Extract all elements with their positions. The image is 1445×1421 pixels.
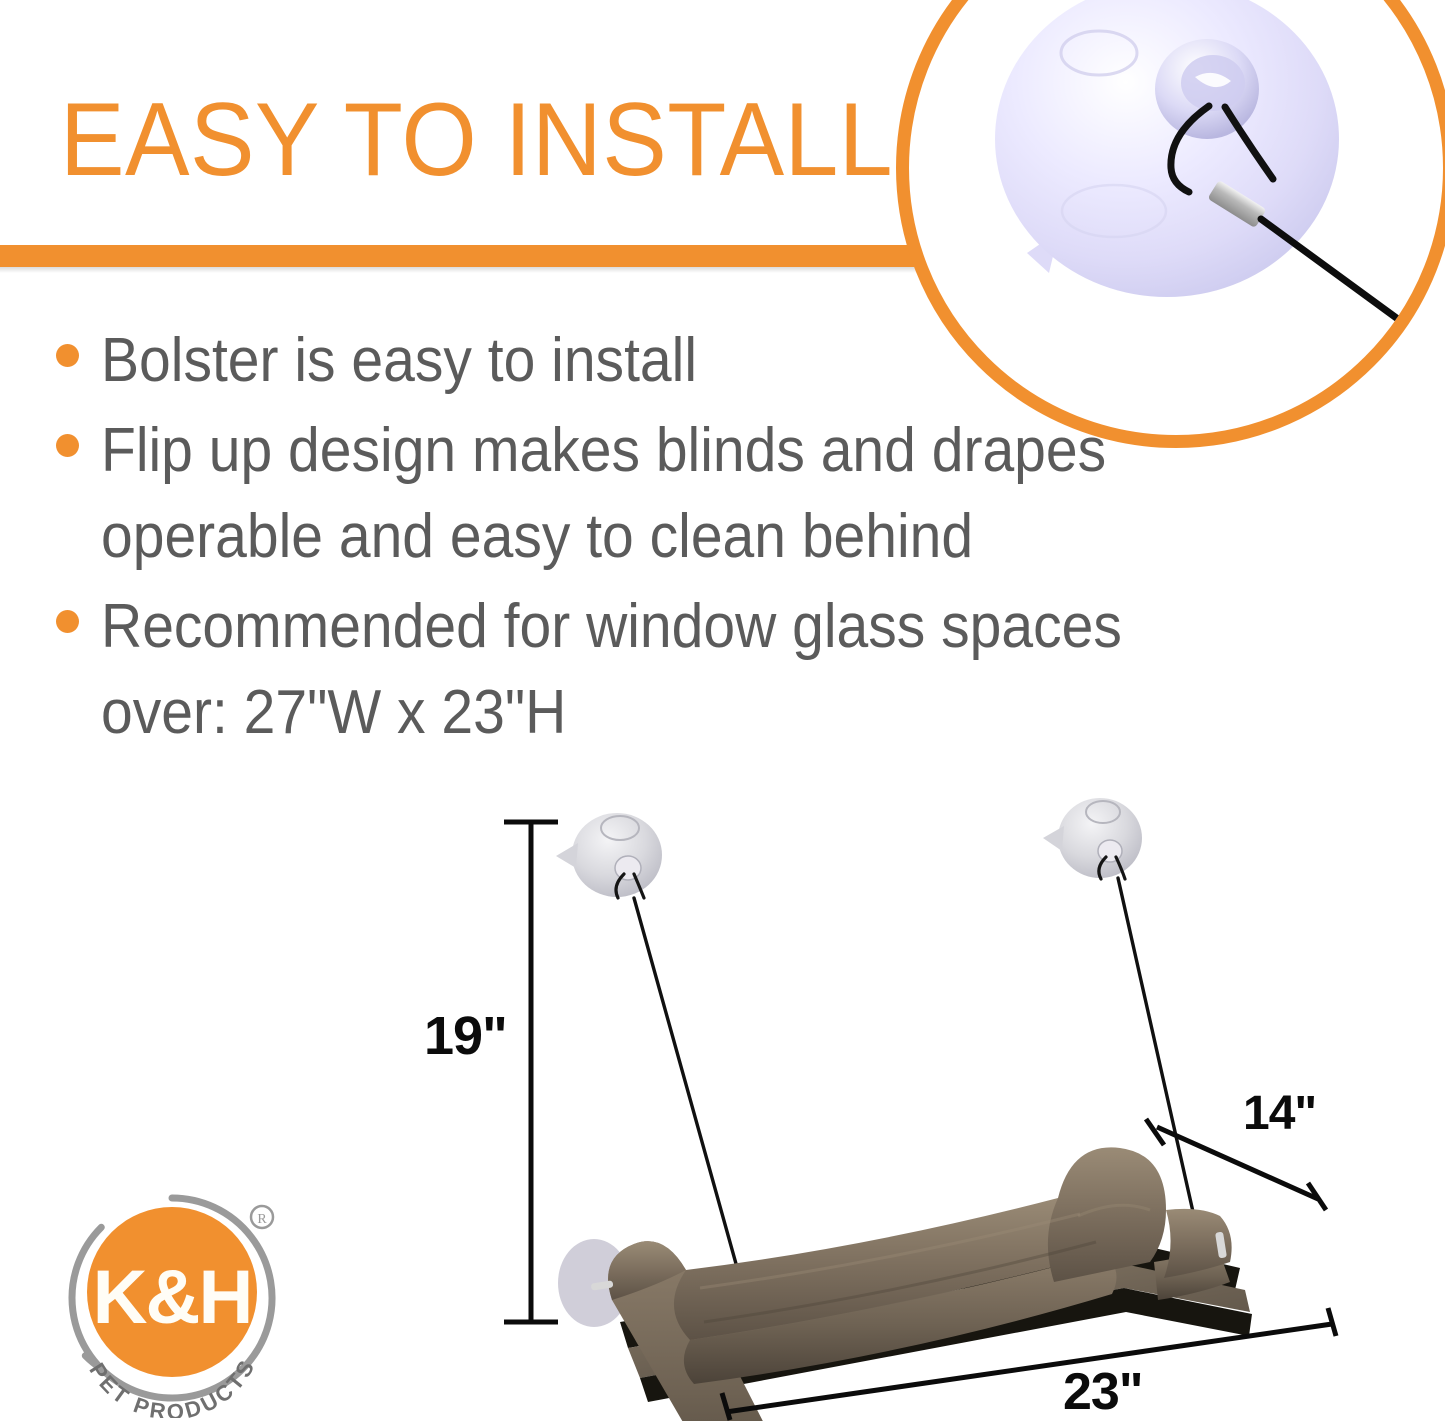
suction-cup-icon	[556, 813, 662, 898]
dimension-label-width: 23"	[1063, 1362, 1143, 1421]
dimension-label-height: 19"	[424, 1005, 507, 1067]
infographic-page: EASY TO INSTALL	[0, 0, 1445, 1421]
brand-logo: K&H R PET PRODUCTS	[48, 1186, 296, 1418]
dimension-line-height	[504, 822, 558, 1322]
suction-cable	[634, 898, 745, 1296]
registered-mark-icon: R	[257, 1212, 267, 1227]
suction-cup-icon	[1043, 798, 1142, 879]
dimension-label-depth: 14"	[1243, 1086, 1316, 1141]
logo-wordmark: K&H	[93, 1255, 252, 1340]
cat-perch-product	[591, 1147, 1252, 1421]
